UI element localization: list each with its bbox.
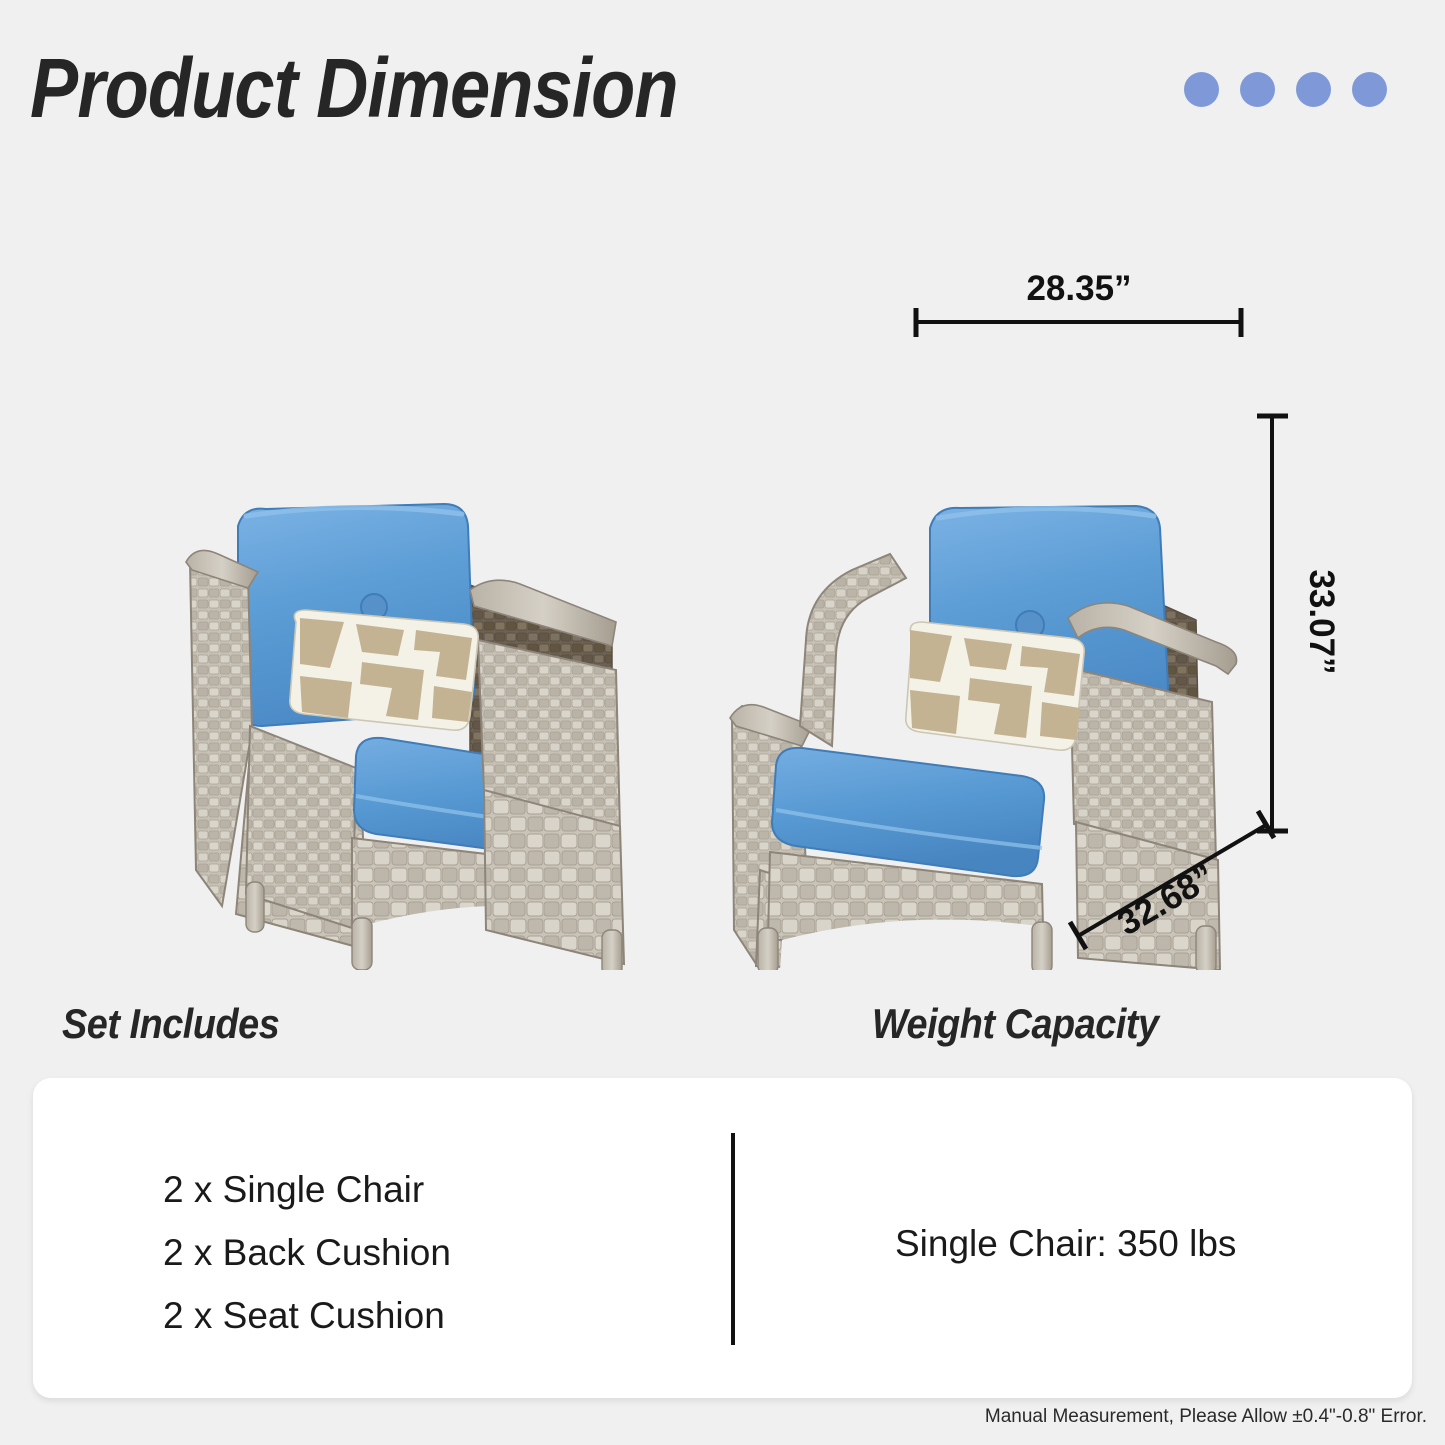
dot-icon [1240,72,1275,107]
measurement-disclaimer: Manual Measurement, Please Allow ±0.4"-0… [985,1406,1427,1428]
card-divider [731,1133,735,1345]
header: Product Dimension [0,0,1445,170]
list-item: 2 x Single Chair [163,1158,451,1221]
page-title: Product Dimension [30,42,678,134]
list-item: 2 x Back Cushion [163,1221,451,1284]
decorative-dots [1184,72,1387,107]
product-svg: 28.35” 33.07” 32.68” [0,170,1445,970]
chair-left [186,504,624,970]
product-illustration: 28.35” 33.07” 32.68” [0,170,1445,970]
set-includes-heading: Set Includes [62,1000,279,1048]
dimension-label-height: 33.07” [1302,569,1341,674]
weight-capacity-heading: Weight Capacity [872,1000,1159,1048]
list-item: 2 x Seat Cushion [163,1284,451,1347]
dot-icon [1184,72,1219,107]
dimension-line-width [915,308,1242,337]
dimension-line-height [1257,415,1288,832]
product-dimension-infographic: Product Dimension [0,0,1445,1445]
throw-pillow-left [290,610,478,730]
dimension-label-width: 28.35” [1026,269,1131,308]
dot-icon [1296,72,1331,107]
set-includes-list: 2 x Single Chair 2 x Back Cushion 2 x Se… [163,1158,451,1347]
weight-capacity-value: Single Chair: 350 lbs [895,1222,1236,1266]
throw-pillow-right [906,622,1084,750]
dot-icon [1352,72,1387,107]
